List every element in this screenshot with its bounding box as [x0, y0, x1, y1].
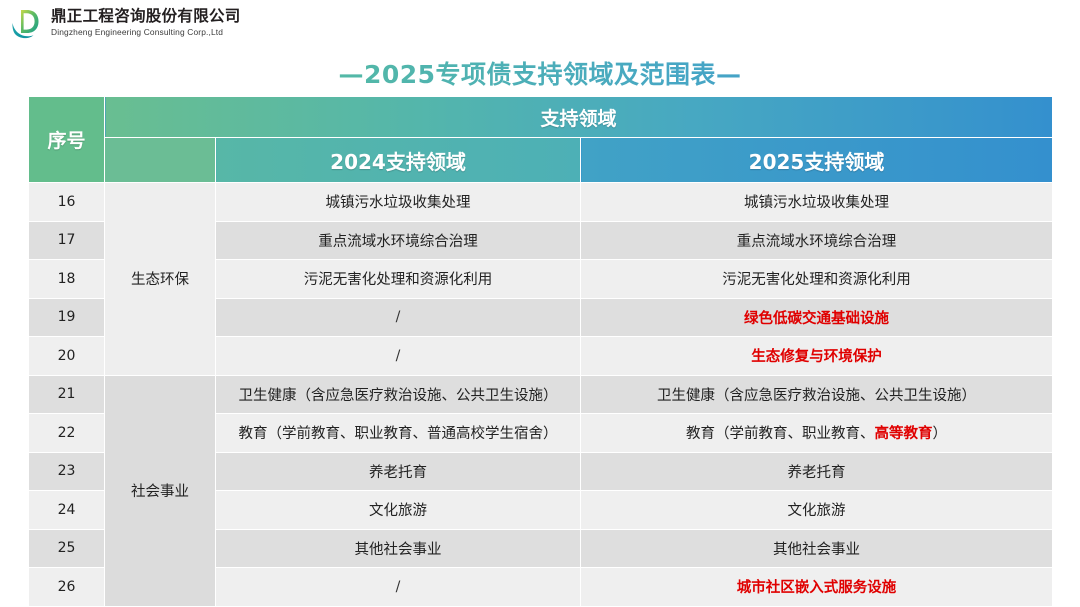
header-row-bottom: 2024支持领域 2025支持领域: [29, 138, 1053, 183]
cell-2024-scope: /: [216, 298, 581, 337]
support-scope-table-wrapper: 序号 支持领域 2024支持领域 2025支持领域 16生态环保城镇污水垃圾收集…: [28, 96, 1052, 607]
cell-2025-scope: 生态修复与环境保护: [581, 337, 1053, 376]
plain-text: 文化旅游: [788, 503, 846, 519]
highlighted-text: 高等教育: [875, 426, 933, 442]
row-index-cell: 21: [29, 375, 105, 414]
cell-2024-scope: /: [216, 337, 581, 376]
plain-text: 重点流域水环境综合治理: [737, 234, 897, 250]
highlighted-text: 城市社区嵌入式服务设施: [737, 580, 897, 596]
company-logo-bar: 鼎正工程咨询股份有限公司 Dingzheng Engineering Consu…: [0, 0, 268, 46]
cell-2025-scope: 城镇污水垃圾收集处理: [581, 183, 1053, 222]
page-title: —2025专项债支持领域及范围表—: [0, 55, 1080, 91]
row-index-cell: 26: [29, 568, 105, 607]
row-index-cell: 22: [29, 414, 105, 453]
row-index-cell: 23: [29, 452, 105, 491]
row-index-cell: 25: [29, 529, 105, 568]
row-index-cell: 18: [29, 260, 105, 299]
company-name-en: Dingzheng Engineering Consulting Corp.,L…: [51, 28, 241, 36]
row-index-cell: 16: [29, 183, 105, 222]
category-cell: 社会事业: [105, 375, 216, 606]
cell-2025-scope: 文化旅游: [581, 491, 1053, 530]
cell-2025-scope: 重点流域水环境综合治理: [581, 221, 1053, 260]
cell-2024-scope: 重点流域水环境综合治理: [216, 221, 581, 260]
table-body: 16生态环保城镇污水垃圾收集处理城镇污水垃圾收集处理17重点流域水环境综合治理重…: [29, 183, 1053, 607]
cell-2024-scope: 养老托育: [216, 452, 581, 491]
plain-text: 卫生健康（含应急医疗救治设施、公共卫生设施）: [657, 388, 976, 404]
column-header-group: 支持领域: [105, 97, 1053, 138]
table-head: 序号 支持领域 2024支持领域 2025支持领域: [29, 97, 1053, 183]
row-index-cell: 19: [29, 298, 105, 337]
row-index-cell: 20: [29, 337, 105, 376]
cell-2025-scope: 污泥无害化处理和资源化利用: [581, 260, 1053, 299]
cell-2025-scope: 卫生健康（含应急医疗救治设施、公共卫生设施）: [581, 375, 1053, 414]
row-index-cell: 24: [29, 491, 105, 530]
cell-2024-scope: 其他社会事业: [216, 529, 581, 568]
plain-text: 城镇污水垃圾收集处理: [744, 195, 889, 211]
plain-text: ）: [933, 426, 948, 442]
highlighted-text: 生态修复与环境保护: [751, 349, 882, 365]
table-row: 21社会事业卫生健康（含应急医疗救治设施、公共卫生设施）卫生健康（含应急医疗救治…: [29, 375, 1053, 414]
plain-text: 教育（学前教育、职业教育、: [686, 426, 875, 442]
plain-text: 污泥无害化处理和资源化利用: [722, 272, 911, 288]
column-header-category: [105, 138, 216, 183]
column-header-2024: 2024支持领域: [216, 138, 581, 183]
company-name-block: 鼎正工程咨询股份有限公司 Dingzheng Engineering Consu…: [51, 9, 241, 36]
row-index-cell: 17: [29, 221, 105, 260]
plain-text: 养老托育: [788, 465, 846, 481]
table-row: 16生态环保城镇污水垃圾收集处理城镇污水垃圾收集处理: [29, 183, 1053, 222]
cell-2024-scope: 城镇污水垃圾收集处理: [216, 183, 581, 222]
column-header-2025: 2025支持领域: [581, 138, 1053, 183]
cell-2025-scope: 教育（学前教育、职业教育、高等教育）: [581, 414, 1053, 453]
dingzheng-d-logo-icon: [10, 6, 44, 40]
header-row-top: 序号 支持领域: [29, 97, 1053, 138]
cell-2025-scope: 其他社会事业: [581, 529, 1053, 568]
company-name-cn: 鼎正工程咨询股份有限公司: [51, 9, 241, 25]
cell-2025-scope: 城市社区嵌入式服务设施: [581, 568, 1053, 607]
highlighted-text: 绿色低碳交通基础设施: [744, 311, 889, 327]
plain-text: 其他社会事业: [773, 542, 860, 558]
cell-2024-scope: 污泥无害化处理和资源化利用: [216, 260, 581, 299]
category-cell: 生态环保: [105, 183, 216, 376]
cell-2024-scope: 教育（学前教育、职业教育、普通高校学生宿舍）: [216, 414, 581, 453]
column-header-index: 序号: [29, 97, 105, 183]
cell-2025-scope: 绿色低碳交通基础设施: [581, 298, 1053, 337]
cell-2024-scope: 文化旅游: [216, 491, 581, 530]
cell-2024-scope: /: [216, 568, 581, 607]
support-scope-table: 序号 支持领域 2024支持领域 2025支持领域 16生态环保城镇污水垃圾收集…: [28, 96, 1053, 607]
cell-2024-scope: 卫生健康（含应急医疗救治设施、公共卫生设施）: [216, 375, 581, 414]
cell-2025-scope: 养老托育: [581, 452, 1053, 491]
